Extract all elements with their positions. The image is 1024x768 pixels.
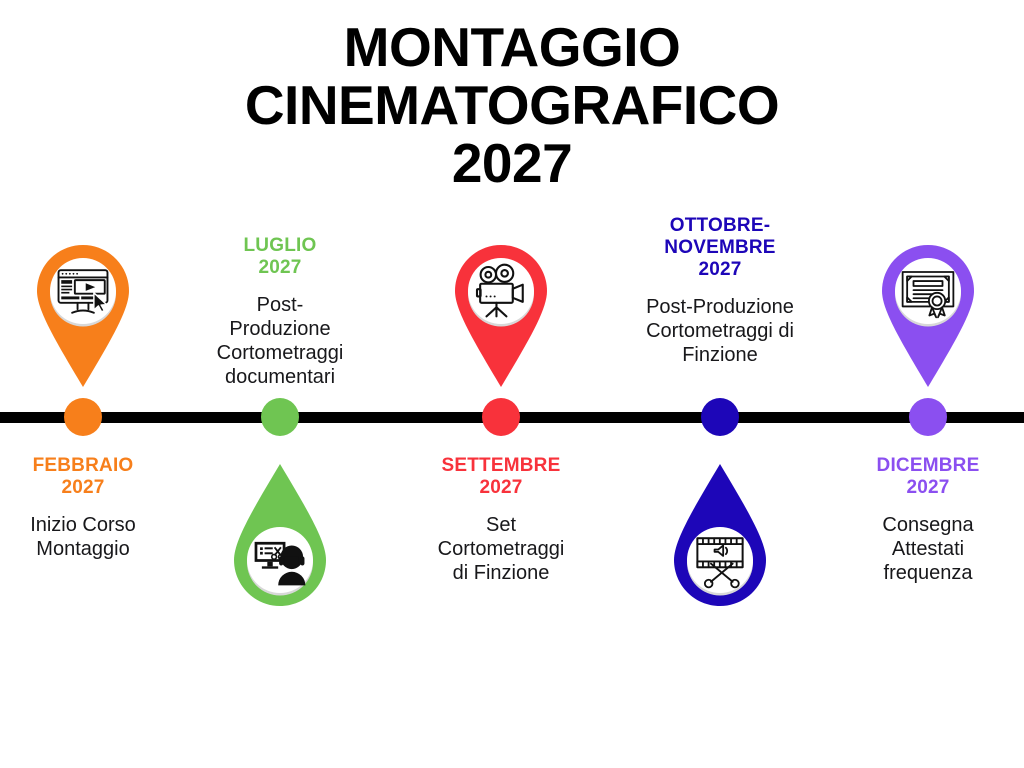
milestone-description-luglio: Post- Produzione Cortometraggi documenta… (180, 293, 380, 389)
milestone-month-settembre: SETTEMBRE 2027 (401, 455, 601, 499)
milestone-month-ottobre-novembre: OTTOBRE- NOVEMBRE 2027 (620, 215, 820, 281)
timeline-pin-settembre[interactable] (453, 243, 549, 389)
video-editing-monitor-icon (52, 260, 114, 322)
milestone-month-luglio: LUGLIO 2027 (180, 235, 380, 279)
timeline-pin-luglio[interactable] (232, 462, 328, 608)
timeline-dot-settembre[interactable] (482, 398, 520, 436)
timeline-dot-luglio[interactable] (261, 398, 299, 436)
milestone-month-dicembre: DICEMBRE 2027 (828, 455, 1024, 499)
timeline-label-dicembre: DICEMBRE 2027Consegna Attestati frequenz… (828, 455, 1024, 585)
video-editor-person-icon (249, 529, 311, 591)
movie-camera-icon (470, 260, 532, 322)
milestone-description-febbraio: Inizio Corso Montaggio (0, 513, 183, 561)
timeline-dot-dicembre[interactable] (909, 398, 947, 436)
page-title: MONTAGGIO CINEMATOGRAFICO 2027 (0, 18, 1024, 192)
milestone-description-settembre: Set Cortometraggi di Finzione (401, 513, 601, 585)
milestone-month-febbraio: FEBBRAIO 2027 (0, 455, 183, 499)
film-strip-scissors-icon (689, 529, 751, 591)
timeline-label-luglio: LUGLIO 2027Post- Produzione Cortometragg… (180, 235, 380, 389)
timeline-pin-ottobre-novembre[interactable] (672, 462, 768, 608)
timeline-label-febbraio: FEBBRAIO 2027Inizio Corso Montaggio (0, 455, 183, 561)
milestone-description-dicembre: Consegna Attestati frequenza (828, 513, 1024, 585)
certificate-icon (897, 260, 959, 322)
timeline-dot-febbraio[interactable] (64, 398, 102, 436)
timeline-label-ottobre-novembre: OTTOBRE- NOVEMBRE 2027Post-Produzione Co… (620, 215, 820, 367)
timeline-pin-dicembre[interactable] (880, 243, 976, 389)
timeline-label-settembre: SETTEMBRE 2027Set Cortometraggi di Finzi… (401, 455, 601, 585)
milestone-description-ottobre-novembre: Post-Produzione Cortometraggi di Finzion… (620, 295, 820, 367)
timeline-pin-febbraio[interactable] (35, 243, 131, 389)
timeline-dot-ottobre-novembre[interactable] (701, 398, 739, 436)
